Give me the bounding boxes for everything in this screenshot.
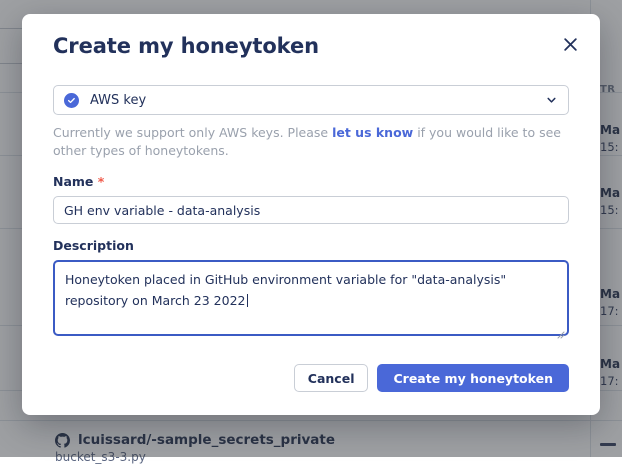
name-label-text: Name	[53, 174, 93, 189]
helper-text-before: Currently we support only AWS keys. Plea…	[53, 125, 332, 140]
description-field-label: Description	[53, 238, 569, 253]
honeytoken-form: AWS key Currently we support only AWS ke…	[53, 85, 569, 336]
check-circle-icon	[64, 93, 79, 108]
required-marker: *	[98, 174, 105, 189]
honeytoken-type-select[interactable]: AWS key	[53, 85, 569, 115]
cancel-button[interactable]: Cancel	[294, 364, 369, 392]
text-cursor	[247, 294, 248, 307]
close-icon	[563, 37, 578, 52]
chevron-down-icon[interactable]	[546, 95, 557, 106]
create-honeytoken-modal: Create my honeytoken AWS key Currently	[22, 14, 600, 415]
helper-text: Currently we support only AWS keys. Plea…	[53, 124, 569, 160]
description-textarea[interactable]: Honeytoken placed in GitHub environment …	[53, 260, 569, 336]
modal-footer: Cancel Create my honeytoken	[294, 364, 569, 392]
let-us-know-link[interactable]: let us know	[332, 125, 413, 140]
name-input[interactable]	[53, 196, 569, 224]
create-honeytoken-button[interactable]: Create my honeytoken	[377, 364, 569, 392]
close-button[interactable]	[556, 30, 584, 58]
description-textarea-value: Honeytoken placed in GitHub environment …	[65, 272, 506, 307]
honeytoken-type-value: AWS key	[90, 93, 146, 108]
name-field-label: Name *	[53, 174, 569, 189]
page-title: Create my honeytoken	[53, 34, 319, 58]
description-textarea-wrap: Honeytoken placed in GitHub environment …	[53, 260, 569, 336]
